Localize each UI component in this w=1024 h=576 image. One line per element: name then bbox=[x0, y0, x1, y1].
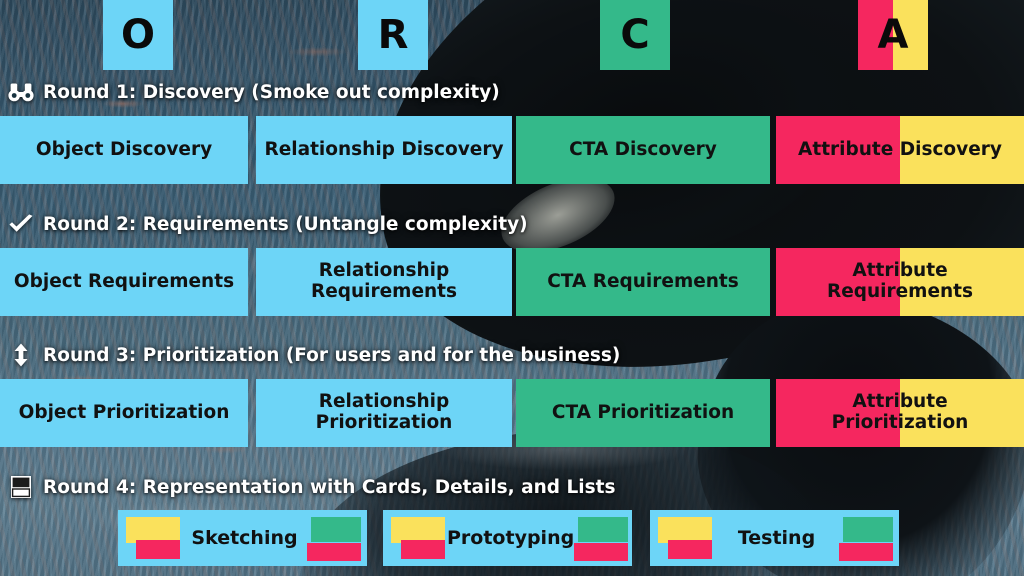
card-title: Sketching bbox=[182, 527, 307, 549]
orca-framework-slide: O R C A Round 1: D bbox=[0, 0, 1024, 576]
round-1-heading: Round 1: Discovery (Smoke out complexity… bbox=[8, 80, 500, 104]
swatch-pink bbox=[136, 540, 180, 559]
card-prototyping[interactable]: Prototyping bbox=[383, 510, 632, 566]
round-2-band: Object Requirements RelationshipRequirem… bbox=[0, 248, 1024, 316]
sketching-right-swatches bbox=[307, 515, 363, 561]
swatch-pink bbox=[574, 543, 628, 561]
card-layout-icon bbox=[8, 475, 34, 499]
cell-label: CTA Prioritization bbox=[552, 403, 734, 424]
letter-a-glyph: A bbox=[878, 15, 909, 55]
letter-tile-o: O bbox=[103, 0, 173, 70]
letter-tile-c: C bbox=[600, 0, 670, 70]
card-title: Testing bbox=[714, 527, 839, 549]
cell-label: Object Prioritization bbox=[19, 403, 230, 424]
cell-label: AttributePrioritization bbox=[832, 392, 969, 433]
cell-cta-requirements[interactable]: CTA Requirements bbox=[516, 248, 770, 316]
cell-cta-prioritization[interactable]: CTA Prioritization bbox=[516, 379, 770, 447]
cell-relationship-prioritization[interactable]: RelationshipPrioritization bbox=[256, 379, 512, 447]
cell-relationship-requirements[interactable]: RelationshipRequirements bbox=[256, 248, 512, 316]
cell-label: CTA Discovery bbox=[569, 140, 717, 161]
round-3-heading-text: Round 3: Prioritization (For users and f… bbox=[43, 345, 620, 366]
swatch-green bbox=[843, 517, 893, 542]
swatch-pink bbox=[668, 540, 712, 559]
testing-right-swatches bbox=[839, 515, 895, 561]
prototyping-right-swatches bbox=[574, 515, 630, 561]
round-3-band: Object Prioritization RelationshipPriori… bbox=[0, 379, 1024, 447]
cell-cta-discovery[interactable]: CTA Discovery bbox=[516, 116, 770, 184]
prototyping-left-swatches bbox=[391, 515, 447, 561]
orca-acronym-row: O R C A bbox=[0, 0, 1024, 72]
cell-label: AttributeRequirements bbox=[827, 261, 973, 302]
cell-object-discovery[interactable]: Object Discovery bbox=[0, 116, 248, 184]
cell-label: Attribute Discovery bbox=[798, 140, 1002, 161]
round-1-band: Object Discovery Relationship Discovery … bbox=[0, 116, 1024, 184]
cell-label: RelationshipPrioritization bbox=[316, 392, 453, 433]
cell-label: Object Discovery bbox=[36, 140, 212, 161]
cell-label: RelationshipRequirements bbox=[311, 261, 457, 302]
round-1-heading-text: Round 1: Discovery (Smoke out complexity… bbox=[43, 82, 500, 103]
cell-object-requirements[interactable]: Object Requirements bbox=[0, 248, 248, 316]
cell-label: Object Requirements bbox=[14, 272, 234, 293]
binoculars-icon bbox=[8, 80, 34, 104]
swatch-pink bbox=[839, 543, 893, 561]
cell-attribute-requirements[interactable]: AttributeRequirements bbox=[776, 248, 1024, 316]
letter-tile-a: A bbox=[858, 0, 928, 70]
cell-attribute-discovery[interactable]: Attribute Discovery bbox=[776, 116, 1024, 184]
round-2-heading-text: Round 2: Requirements (Untangle complexi… bbox=[43, 214, 528, 235]
cell-object-prioritization[interactable]: Object Prioritization bbox=[0, 379, 248, 447]
swatch-green bbox=[578, 517, 628, 542]
round-4-heading-text: Round 4: Representation with Cards, Deta… bbox=[43, 477, 615, 498]
cell-attribute-prioritization[interactable]: AttributePrioritization bbox=[776, 379, 1024, 447]
round-3-heading: Round 3: Prioritization (For users and f… bbox=[8, 343, 620, 367]
swatch-pink bbox=[401, 540, 445, 559]
letter-o-glyph: O bbox=[121, 15, 155, 55]
cell-label: Relationship Discovery bbox=[264, 140, 503, 161]
card-title: Prototyping bbox=[447, 527, 574, 549]
cell-relationship-discovery[interactable]: Relationship Discovery bbox=[256, 116, 512, 184]
card-sketching[interactable]: Sketching bbox=[118, 510, 367, 566]
testing-left-swatches bbox=[658, 515, 714, 561]
sketching-left-swatches bbox=[126, 515, 182, 561]
card-testing[interactable]: Testing bbox=[650, 510, 899, 566]
checkmark-icon bbox=[8, 212, 34, 236]
letter-c-glyph: C bbox=[620, 15, 649, 55]
round-4-heading: Round 4: Representation with Cards, Deta… bbox=[8, 475, 615, 499]
swatch-green bbox=[311, 517, 361, 542]
letter-tile-r: R bbox=[358, 0, 428, 70]
swatch-pink bbox=[307, 543, 361, 561]
up-down-arrow-icon bbox=[8, 343, 34, 367]
cell-label: CTA Requirements bbox=[547, 272, 739, 293]
round-2-heading: Round 2: Requirements (Untangle complexi… bbox=[8, 212, 528, 236]
letter-r-glyph: R bbox=[378, 15, 409, 55]
